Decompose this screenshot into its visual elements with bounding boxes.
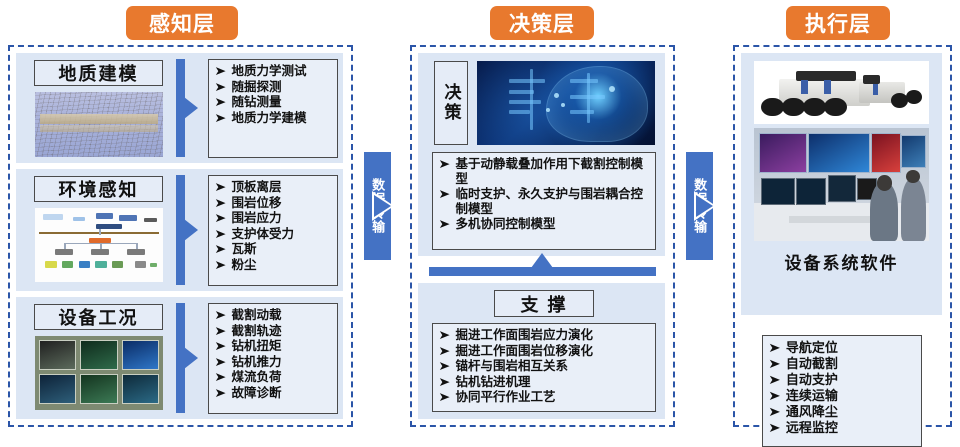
list-item: ➤自动截割 <box>769 356 917 371</box>
list-item: ➤连续运输 <box>769 388 917 403</box>
list-item-label: 钻机钻进机理 <box>455 375 651 390</box>
image-ai-brain-circuit <box>477 61 655 145</box>
bullet-icon: ➤ <box>768 388 781 403</box>
image-roadheader-mining-machine <box>754 61 929 124</box>
list-item-label: 通风降尘 <box>786 404 917 419</box>
list-item-label: 掘进工作面围岩位移演化 <box>455 344 651 359</box>
list-item-label: 地质力学建模 <box>231 111 333 126</box>
badge-decision-label: 决策层 <box>509 8 575 38</box>
bullet-icon: ➤ <box>768 372 781 387</box>
list-item-label: 协同平行作业工艺 <box>455 390 651 405</box>
list-item-label: 截割轨迹 <box>231 324 333 339</box>
title-equipment-condition-label: 设备工况 <box>59 304 139 330</box>
list-item-label: 粉尘 <box>231 258 333 273</box>
group-geological-modeling: 地质建模 ➤地质力学测试 ➤随掘探测 ➤随钻测量 ➤地质力学建模 <box>16 53 343 163</box>
bullet-icon: ➤ <box>214 308 226 323</box>
title-environment-sensing-label: 环境感知 <box>59 176 139 202</box>
list-decision-items: ➤基于动静载叠加作用下截割控制模型 ➤临时支护、永久支护与围岩耦合控制模型 ➤多… <box>439 157 651 232</box>
image-network-topology-diagram <box>35 208 163 282</box>
list-item: ➤基于动静载叠加作用下截割控制模型 <box>439 157 651 186</box>
list-environment-sensing: ➤顶板离层 ➤围岩位移 ➤围岩应力 ➤支护体受力 ➤瓦斯 ➤粉尘 <box>208 175 338 286</box>
label-decision-text: 决策 <box>443 83 460 123</box>
list-item-label: 多机协同控制模型 <box>455 217 651 232</box>
list-item: ➤通风降尘 <box>769 404 917 419</box>
list-item: ➤掘进工作面围岩位移演化 <box>439 344 651 359</box>
list-item: ➤自动支护 <box>769 372 917 387</box>
list-item-label: 远程监控 <box>786 420 917 435</box>
bullet-icon: ➤ <box>214 242 226 257</box>
list-item-label: 煤流负荷 <box>231 370 333 385</box>
list-item-label: 掘进工作面围岩应力演化 <box>455 328 651 343</box>
bullet-icon: ➤ <box>438 390 450 405</box>
image-control-room-operators <box>754 128 929 241</box>
list-item: ➤远程监控 <box>769 420 917 435</box>
list-item: ➤临时支护、永久支护与围岩耦合控制模型 <box>439 187 651 216</box>
list-support-topics: ➤掘进工作面围岩应力演化 ➤掘进工作面围岩位移演化 ➤锚杆与围岩相互关系 ➤钻机… <box>432 323 656 412</box>
arrow-right-inner-icon <box>696 195 713 217</box>
title-environment-sensing: 环境感知 <box>34 176 163 202</box>
list-item: ➤粉尘 <box>215 258 333 273</box>
bullet-icon: ➤ <box>214 64 226 79</box>
list-item-label: 故障诊断 <box>231 386 333 401</box>
list-item: ➤围岩位移 <box>215 196 333 211</box>
list-item: ➤故障诊断 <box>215 386 333 401</box>
list-item: ➤钻机推力 <box>215 355 333 370</box>
bullet-icon: ➤ <box>438 344 450 359</box>
badge-perception-layer: 感知层 <box>126 6 238 40</box>
title-geological-modeling: 地质建模 <box>34 60 163 86</box>
list-equipment-items: ➤截割动载 ➤截割轨迹 ➤钻机扭矩 ➤钻机推力 ➤煤流负荷 ➤故障诊断 <box>215 308 333 400</box>
list-equipment-condition: ➤截割动载 ➤截割轨迹 ➤钻机扭矩 ➤钻机推力 ➤煤流负荷 ➤故障诊断 <box>208 303 338 414</box>
list-item: ➤煤流负荷 <box>215 370 333 385</box>
list-execution-items: ➤导航定位 ➤自动截割 ➤自动支护 ➤连续运输 ➤通风降尘 ➤远程监控 <box>769 340 917 435</box>
badge-decision-layer: 决策层 <box>490 6 594 40</box>
connector-data-transfer-left: 数据传输 <box>364 152 391 260</box>
list-item: ➤协同平行作业工艺 <box>439 390 651 405</box>
list-item: ➤多机协同控制模型 <box>439 217 651 232</box>
list-item-label: 围岩应力 <box>231 211 333 226</box>
bullet-icon: ➤ <box>214 80 226 95</box>
list-item: ➤导航定位 <box>769 340 917 355</box>
connector-data-transfer-right: 数据传输 <box>686 152 713 260</box>
list-item-label: 瓦斯 <box>231 242 333 257</box>
list-item: ➤随钻测量 <box>215 95 333 110</box>
list-item: ➤地质力学测试 <box>215 64 333 79</box>
list-item-label: 临时支护、永久支护与围岩耦合控制模型 <box>455 187 651 216</box>
bullet-icon: ➤ <box>768 420 781 435</box>
list-environment-items: ➤顶板离层 ➤围岩位移 ➤围岩应力 ➤支护体受力 ➤瓦斯 ➤粉尘 <box>215 180 333 272</box>
arrow-right-inner-icon <box>374 195 391 217</box>
panel-decision: 决策 ➤基于动静载叠加作用下截割控制模型 <box>410 45 675 427</box>
list-item-label: 随掘探测 <box>231 80 333 95</box>
badge-execution-layer: 执行层 <box>786 6 890 40</box>
list-item: ➤围岩应力 <box>215 211 333 226</box>
list-item-label: 支护体受力 <box>231 227 333 242</box>
bullet-icon: ➤ <box>214 196 226 211</box>
bullet-icon: ➤ <box>214 324 226 339</box>
bullet-icon: ➤ <box>768 356 781 371</box>
list-item-label: 基于动静载叠加作用下截割控制模型 <box>455 157 651 186</box>
caption-equipment-system-software-label: 设备系统软件 <box>785 254 899 273</box>
bullet-icon: ➤ <box>768 404 781 419</box>
badge-perception-label: 感知层 <box>149 8 215 38</box>
list-item-label: 自动支护 <box>786 372 917 387</box>
list-item: ➤地质力学建模 <box>215 111 333 126</box>
badge-execution-label: 执行层 <box>805 8 871 38</box>
list-item-label: 随钻测量 <box>231 95 333 110</box>
bullet-icon: ➤ <box>214 355 226 370</box>
bullet-icon: ➤ <box>438 157 450 172</box>
group-environment-sensing: 环境感知 <box>16 169 343 291</box>
group-support: 支 撑 ➤掘进工作面围岩应力演化 ➤掘进工作面围岩位移演化 ➤锚杆与围岩相互关系… <box>418 283 665 419</box>
bullet-icon: ➤ <box>214 95 226 110</box>
list-item: ➤锚杆与围岩相互关系 <box>439 359 651 374</box>
panel-perception: 地质建模 ➤地质力学测试 ➤随掘探测 ➤随钻测量 ➤地质力学建模 环境 <box>8 45 353 427</box>
list-item-label: 导航定位 <box>786 340 917 355</box>
arrow-up-stem <box>538 265 547 276</box>
diagram-root: 感知层 决策层 执行层 地质建模 ➤地质力学测试 ➤随掘探测 ➤随钻测量 <box>0 0 960 433</box>
list-item: ➤截割轨迹 <box>215 324 333 339</box>
title-geological-modeling-label: 地质建模 <box>59 60 139 86</box>
list-item-label: 钻机推力 <box>231 355 333 370</box>
group-equipment-system-software: 设备系统软件 <box>741 53 942 315</box>
group-equipment-condition: 设备工况 ➤截割动载 ➤截割轨迹 ➤钻机扭矩 ➤钻机推力 ➤煤流负荷 <box>16 297 343 419</box>
list-item-label: 自动截割 <box>786 356 917 371</box>
bullet-icon: ➤ <box>214 339 226 354</box>
list-item: ➤钻机钻进机理 <box>439 375 651 390</box>
label-support: 支 撑 <box>494 290 594 317</box>
list-item: ➤截割动载 <box>215 308 333 323</box>
bullet-icon: ➤ <box>438 359 450 374</box>
bullet-icon: ➤ <box>438 375 450 390</box>
list-item-label: 截割动载 <box>231 308 333 323</box>
list-item: ➤掘进工作面围岩应力演化 <box>439 328 651 343</box>
bullet-icon: ➤ <box>214 227 226 242</box>
connector-arrow-geological <box>184 97 198 119</box>
title-equipment-condition: 设备工况 <box>34 304 163 330</box>
label-decision: 决策 <box>434 61 468 145</box>
list-item-label: 围岩位移 <box>231 196 333 211</box>
connector-arrow-environment <box>184 219 198 241</box>
bullet-icon: ➤ <box>438 187 450 202</box>
bullet-icon: ➤ <box>214 370 226 385</box>
list-item: ➤顶板离层 <box>215 180 333 195</box>
bullet-icon: ➤ <box>768 340 781 355</box>
list-geological-items: ➤地质力学测试 ➤随掘探测 ➤随钻测量 ➤地质力学建模 <box>215 64 333 125</box>
list-decision-models: ➤基于动静载叠加作用下截割控制模型 ➤临时支护、永久支护与围岩耦合控制模型 ➤多… <box>432 152 656 250</box>
bullet-icon: ➤ <box>214 258 226 273</box>
list-execution-functions: ➤导航定位 ➤自动截割 ➤自动支护 ➤连续运输 ➤通风降尘 ➤远程监控 <box>762 335 922 447</box>
bullet-icon: ➤ <box>438 217 450 232</box>
bullet-icon: ➤ <box>214 111 226 126</box>
list-item-label: 锚杆与围岩相互关系 <box>455 359 651 374</box>
list-item-label: 钻机扭矩 <box>231 339 333 354</box>
image-monitor-wall-grid <box>35 336 163 410</box>
caption-equipment-system-software: 设备系统软件 <box>741 249 942 274</box>
bullet-icon: ➤ <box>214 386 226 401</box>
image-geological-mesh-model <box>35 92 163 157</box>
list-geological-modeling: ➤地质力学测试 ➤随掘探测 ➤随钻测量 ➤地质力学建模 <box>208 59 338 158</box>
list-item: ➤随掘探测 <box>215 80 333 95</box>
panel-execution: 设备系统软件 ➤导航定位 ➤自动截割 ➤自动支护 ➤连续运输 ➤通风降尘 ➤远程… <box>733 45 952 427</box>
list-support-items: ➤掘进工作面围岩应力演化 ➤掘进工作面围岩位移演化 ➤锚杆与围岩相互关系 ➤钻机… <box>439 328 651 405</box>
connector-arrow-equipment <box>184 347 198 369</box>
group-decision: 决策 ➤基于动静载叠加作用下截割控制模型 <box>418 53 665 256</box>
list-item: ➤钻机扭矩 <box>215 339 333 354</box>
bullet-icon: ➤ <box>438 328 450 343</box>
list-item-label: 顶板离层 <box>231 180 333 195</box>
list-item-label: 连续运输 <box>786 388 917 403</box>
bullet-icon: ➤ <box>214 211 226 226</box>
label-support-text: 支 撑 <box>520 291 567 317</box>
list-item: ➤支护体受力 <box>215 227 333 242</box>
list-item: ➤瓦斯 <box>215 242 333 257</box>
list-item-label: 地质力学测试 <box>231 64 333 79</box>
bullet-icon: ➤ <box>214 180 226 195</box>
